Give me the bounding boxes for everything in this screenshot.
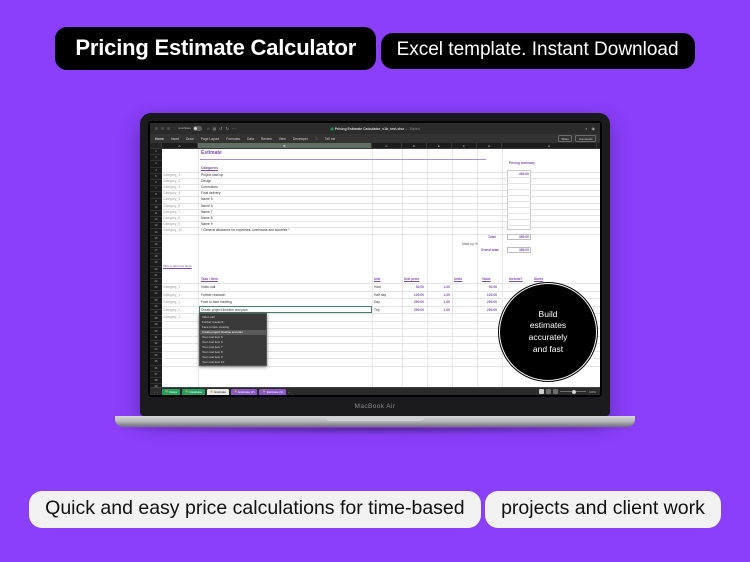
zoom-slider-knob[interactable] <box>572 390 576 394</box>
page-subtitle: Excel template. Instant Download <box>381 33 695 69</box>
row-unit-price[interactable]: 30.00 <box>402 285 424 289</box>
row-task[interactable]: Face to face meeting <box>201 300 232 304</box>
column-header-f[interactable]: F <box>452 143 477 148</box>
screen-bezel: AutoSave ⌂ ▤ ↺ ↻ ⋯ ▣ Pricing Estima <box>148 121 602 397</box>
ribbon-tab-formulas[interactable]: Formulas <box>226 137 240 141</box>
excel-doc-icon: ▣ <box>330 127 333 131</box>
normal-view-icon[interactable] <box>539 389 544 394</box>
more-icon[interactable]: ⋯ <box>232 126 236 131</box>
sheet-lock-icon: 🔒 <box>210 390 213 393</box>
category-name[interactable]: Design <box>201 179 211 183</box>
row-category[interactable]: Category_1 <box>163 285 180 289</box>
categories-header: Categories <box>201 166 218 170</box>
next-sheet-icon[interactable]: › <box>157 390 158 394</box>
sheet-tab-estimate-2[interactable]: 🔒 Estimate (2) <box>231 389 257 395</box>
row-category[interactable]: Category_1 <box>163 293 180 297</box>
row-value[interactable]: 30.00 <box>475 285 497 289</box>
active-cell-selection[interactable] <box>199 306 372 313</box>
column-header-b[interactable]: B <box>198 143 372 148</box>
laptop-base <box>115 416 635 427</box>
row-units[interactable]: 1.00 <box>428 293 450 297</box>
lightbulb-icon: ♡ <box>315 137 318 141</box>
category-key[interactable]: Category_3 <box>163 185 180 189</box>
redo-icon[interactable]: ↻ <box>226 126 229 131</box>
header-banners: Pricing Estimate Calculator Excel templa… <box>0 27 750 70</box>
table-header-unit-price: Unit price <box>404 277 419 281</box>
category-key[interactable]: Category_10 <box>163 228 182 232</box>
sheet-tab-label: Database <box>189 390 202 394</box>
promo-badge: Build estimates accurately and fast <box>499 283 597 381</box>
footer-banners: Quick and easy price calculations for ti… <box>0 488 750 528</box>
badge-line-4: and fast <box>533 344 563 354</box>
badge-line-1: Build <box>539 309 558 319</box>
undo-icon[interactable]: ↺ <box>219 126 222 131</box>
account-icon[interactable]: ◉ <box>592 126 596 131</box>
save-icon[interactable]: ⌂ <box>207 126 209 131</box>
pricing-summary-value[interactable]: 480.00 <box>511 172 529 176</box>
table-header-include: Include? <box>509 277 523 281</box>
previous-sheet-icon[interactable]: ‹ <box>154 390 155 394</box>
badge-line-3: accurately <box>529 332 568 342</box>
total-value[interactable]: 480.00 <box>511 235 529 239</box>
sheet-tab-label: Estimate (3) <box>267 390 283 394</box>
category-name[interactable]: Final delivery <box>201 191 220 195</box>
add-sheet-button[interactable]: + <box>288 390 290 394</box>
row-unit-price[interactable]: 250.00 <box>402 300 424 304</box>
category-key[interactable]: Category_7 <box>163 210 180 214</box>
grand-total-label: Grand total <box>481 248 499 252</box>
ribbon-right-actions[interactable]: Share Comments <box>558 135 596 143</box>
title-underline <box>200 159 486 160</box>
laptop-shadow <box>95 428 655 435</box>
row-unit[interactable]: Day <box>374 300 380 304</box>
excel-title-bar: AutoSave ⌂ ▤ ↺ ↻ ⋯ ▣ Pricing Estima <box>150 123 600 134</box>
category-name[interactable]: Corrections <box>201 185 218 189</box>
ribbon-tab-insert[interactable]: Insert <box>171 137 179 141</box>
category-key[interactable]: Category_8 <box>163 216 180 220</box>
sheet-tab-notes[interactable]: 🔒 Notes <box>162 389 180 395</box>
column-header-a[interactable]: A <box>162 143 198 148</box>
laptop-mockup: AutoSave ⌂ ▤ ↺ ↻ ⋯ ▣ Pricing Estima <box>140 113 610 435</box>
table-header-task: Task / Item <box>201 277 218 281</box>
maximize-button[interactable] <box>167 127 170 130</box>
row-category[interactable]: Category_1 <box>163 300 180 304</box>
titlebar-actions[interactable]: ⌕ ◉ <box>585 126 595 131</box>
row-units[interactable]: 1.00 <box>428 285 450 289</box>
sheet-nav-arrows[interactable]: ‹ › <box>154 390 158 394</box>
category-name[interactable]: * General allowance for expenses, overhe… <box>201 228 290 232</box>
category-name[interactable]: Name 7 <box>201 210 213 214</box>
ribbon-tab-draw[interactable]: Draw <box>186 137 194 141</box>
task-dropdown-list[interactable]: Video call Further research Face to face… <box>199 313 267 366</box>
category-key[interactable]: Category_1 <box>163 173 180 177</box>
ribbon-tab-home[interactable]: Home <box>155 137 164 141</box>
sheet-lock-icon: 🔒 <box>262 390 265 393</box>
row-task[interactable]: Video call <box>201 285 215 289</box>
sheet-lock-icon: 🔒 <box>234 390 237 393</box>
row-unit[interactable]: Hour <box>374 285 381 289</box>
category-name[interactable]: Name 8 <box>201 216 213 220</box>
row-category[interactable]: Category_1 <box>163 315 180 319</box>
autosave-toggle[interactable] <box>193 126 202 130</box>
laptop-chin: MacBook Air <box>148 397 602 416</box>
column-header-d[interactable]: D <box>402 143 427 148</box>
excel-ribbon-tabs[interactable]: Home Insert Draw Page Layout Formulas Da… <box>150 134 600 143</box>
spreadsheet-grid[interactable]: 1 2 3 4 5 6 7 8 9 10 11 12 13 <box>150 149 600 387</box>
page-layout-icon[interactable] <box>546 389 551 394</box>
laptop-screen: AutoSave ⌂ ▤ ↺ ↻ ⋯ ▣ Pricing Estima <box>150 123 600 395</box>
laptop-base-notch <box>325 416 425 421</box>
dropdown-item[interactable]: Your cost item 10 <box>200 360 266 365</box>
page-title: Pricing Estimate Calculator <box>55 27 376 70</box>
grand-total-value[interactable]: 480.00 <box>511 248 529 252</box>
category-name[interactable]: Name 6 <box>201 204 213 208</box>
status-right-controls[interactable]: 100% <box>539 389 596 394</box>
sheet-tab-label: Estimate <box>214 390 226 394</box>
sheet-lock-icon: 🔒 <box>185 390 188 393</box>
column-header-c[interactable]: C <box>372 143 402 148</box>
laptop-lid: AutoSave ⌂ ▤ ↺ ↻ ⋯ ▣ Pricing Estima <box>140 113 610 416</box>
page-break-icon[interactable] <box>553 389 558 394</box>
row-units[interactable]: 1.00 <box>428 308 450 312</box>
category-key[interactable]: Category_4 <box>163 191 180 195</box>
excel-window: AutoSave ⌂ ▤ ↺ ↻ ⋯ ▣ Pricing Estima <box>150 123 600 395</box>
table-header-units: Units <box>454 277 462 281</box>
row-unit[interactable]: Trip <box>374 308 380 312</box>
category-name[interactable]: Project start up <box>201 173 223 177</box>
column-header-e[interactable]: E <box>427 143 452 148</box>
ribbon-tab-review[interactable]: Review <box>261 137 272 141</box>
sheet-tab-label: Notes <box>169 390 177 394</box>
zoom-slider[interactable] <box>560 391 586 392</box>
row-value[interactable]: 250.00 <box>475 308 497 312</box>
total-label: Total <box>488 235 496 239</box>
category-name[interactable]: Name 5 <box>201 197 213 201</box>
row-unit[interactable]: Half day <box>374 293 386 297</box>
sheet-title-cell[interactable]: Estimate <box>201 150 222 156</box>
window-traffic-lights[interactable] <box>155 127 170 130</box>
print-icon[interactable]: ▤ <box>213 126 217 131</box>
category-key[interactable]: Category_9 <box>163 222 180 226</box>
markup-label: Mark up % <box>462 242 478 246</box>
row-header[interactable]: 39 <box>150 384 162 387</box>
sheet-tab-label: Estimate (2) <box>238 390 254 394</box>
row-headers[interactable]: 1 2 3 4 5 6 7 8 9 10 11 12 13 <box>150 149 162 387</box>
document-title: Pricing Estimate Calculator_v1b_test.xls… <box>335 127 404 131</box>
promo-badge-text: Build estimates accurately and fast <box>529 309 568 356</box>
minimize-button[interactable] <box>161 127 164 130</box>
laptop-model-label: MacBook Air <box>355 403 396 410</box>
share-button[interactable]: Share <box>558 135 572 143</box>
add-cost-items-link[interactable]: Click to add Cost Items <box>163 265 192 268</box>
zoom-level[interactable]: 100% <box>589 390 596 394</box>
pricing-summary-label: Pricing summary <box>509 161 535 165</box>
row-unit-price[interactable]: 250.00 <box>402 308 424 312</box>
row-category[interactable]: Category_1 <box>163 308 180 312</box>
ribbon-tab-view[interactable]: View <box>279 137 286 141</box>
sheet-tab-bar[interactable]: ‹ › 🔒 Notes 🔒 Database 🔒 <box>150 387 600 395</box>
search-icon[interactable]: ⌕ <box>585 126 587 131</box>
ribbon-tab-data[interactable]: Data <box>247 137 254 141</box>
comments-button[interactable]: Comments <box>575 135 596 143</box>
row-task[interactable]: Further research <box>201 293 225 297</box>
ribbon-tab-page-layout[interactable]: Page Layout <box>201 137 220 141</box>
sheet-tab-database[interactable]: 🔒 Database <box>182 389 205 395</box>
sheet-tab-estimate[interactable]: 🔒 Estimate <box>207 389 229 395</box>
category-key[interactable]: Category_2 <box>163 179 180 183</box>
category-key[interactable]: Category_5 <box>163 197 180 201</box>
sheet-lock-icon: 🔒 <box>165 390 168 393</box>
sheet-surface[interactable]: Estimate Categories Category_1 Project s… <box>162 149 600 387</box>
footer-line-2: projects and client work <box>485 491 721 528</box>
footer-line-1: Quick and easy price calculations for ti… <box>29 491 480 528</box>
category-key[interactable]: Category_6 <box>163 204 180 208</box>
table-header-notes: Notes <box>534 277 543 281</box>
autosave-label: AutoSave <box>178 126 191 130</box>
row-value[interactable]: 250.00 <box>475 300 497 304</box>
autosave-control[interactable]: AutoSave <box>178 126 202 130</box>
table-header-unit: Unit <box>374 277 380 281</box>
saved-status: — Saved <box>405 127 419 131</box>
column-header-h[interactable]: H <box>502 143 597 148</box>
column-header-g[interactable]: G <box>477 143 502 148</box>
ribbon-tab-developer[interactable]: Developer <box>293 137 308 141</box>
quick-access-toolbar[interactable]: ⌂ ▤ ↺ ↻ ⋯ <box>207 126 236 131</box>
row-value[interactable]: 120.00 <box>475 293 497 297</box>
select-all-corner[interactable] <box>150 143 162 148</box>
close-button[interactable] <box>155 127 158 130</box>
row-unit-price[interactable]: 120.00 <box>402 293 424 297</box>
ribbon-tell-me[interactable]: Tell me <box>325 137 335 141</box>
row-units[interactable]: 1.00 <box>428 300 450 304</box>
table-header-value: Value <box>482 277 491 281</box>
category-name[interactable]: Name 9 <box>201 222 213 226</box>
badge-line-2: estimates <box>530 320 566 330</box>
sheet-tab-estimate-3[interactable]: 🔒 Estimate (3) <box>259 389 285 395</box>
